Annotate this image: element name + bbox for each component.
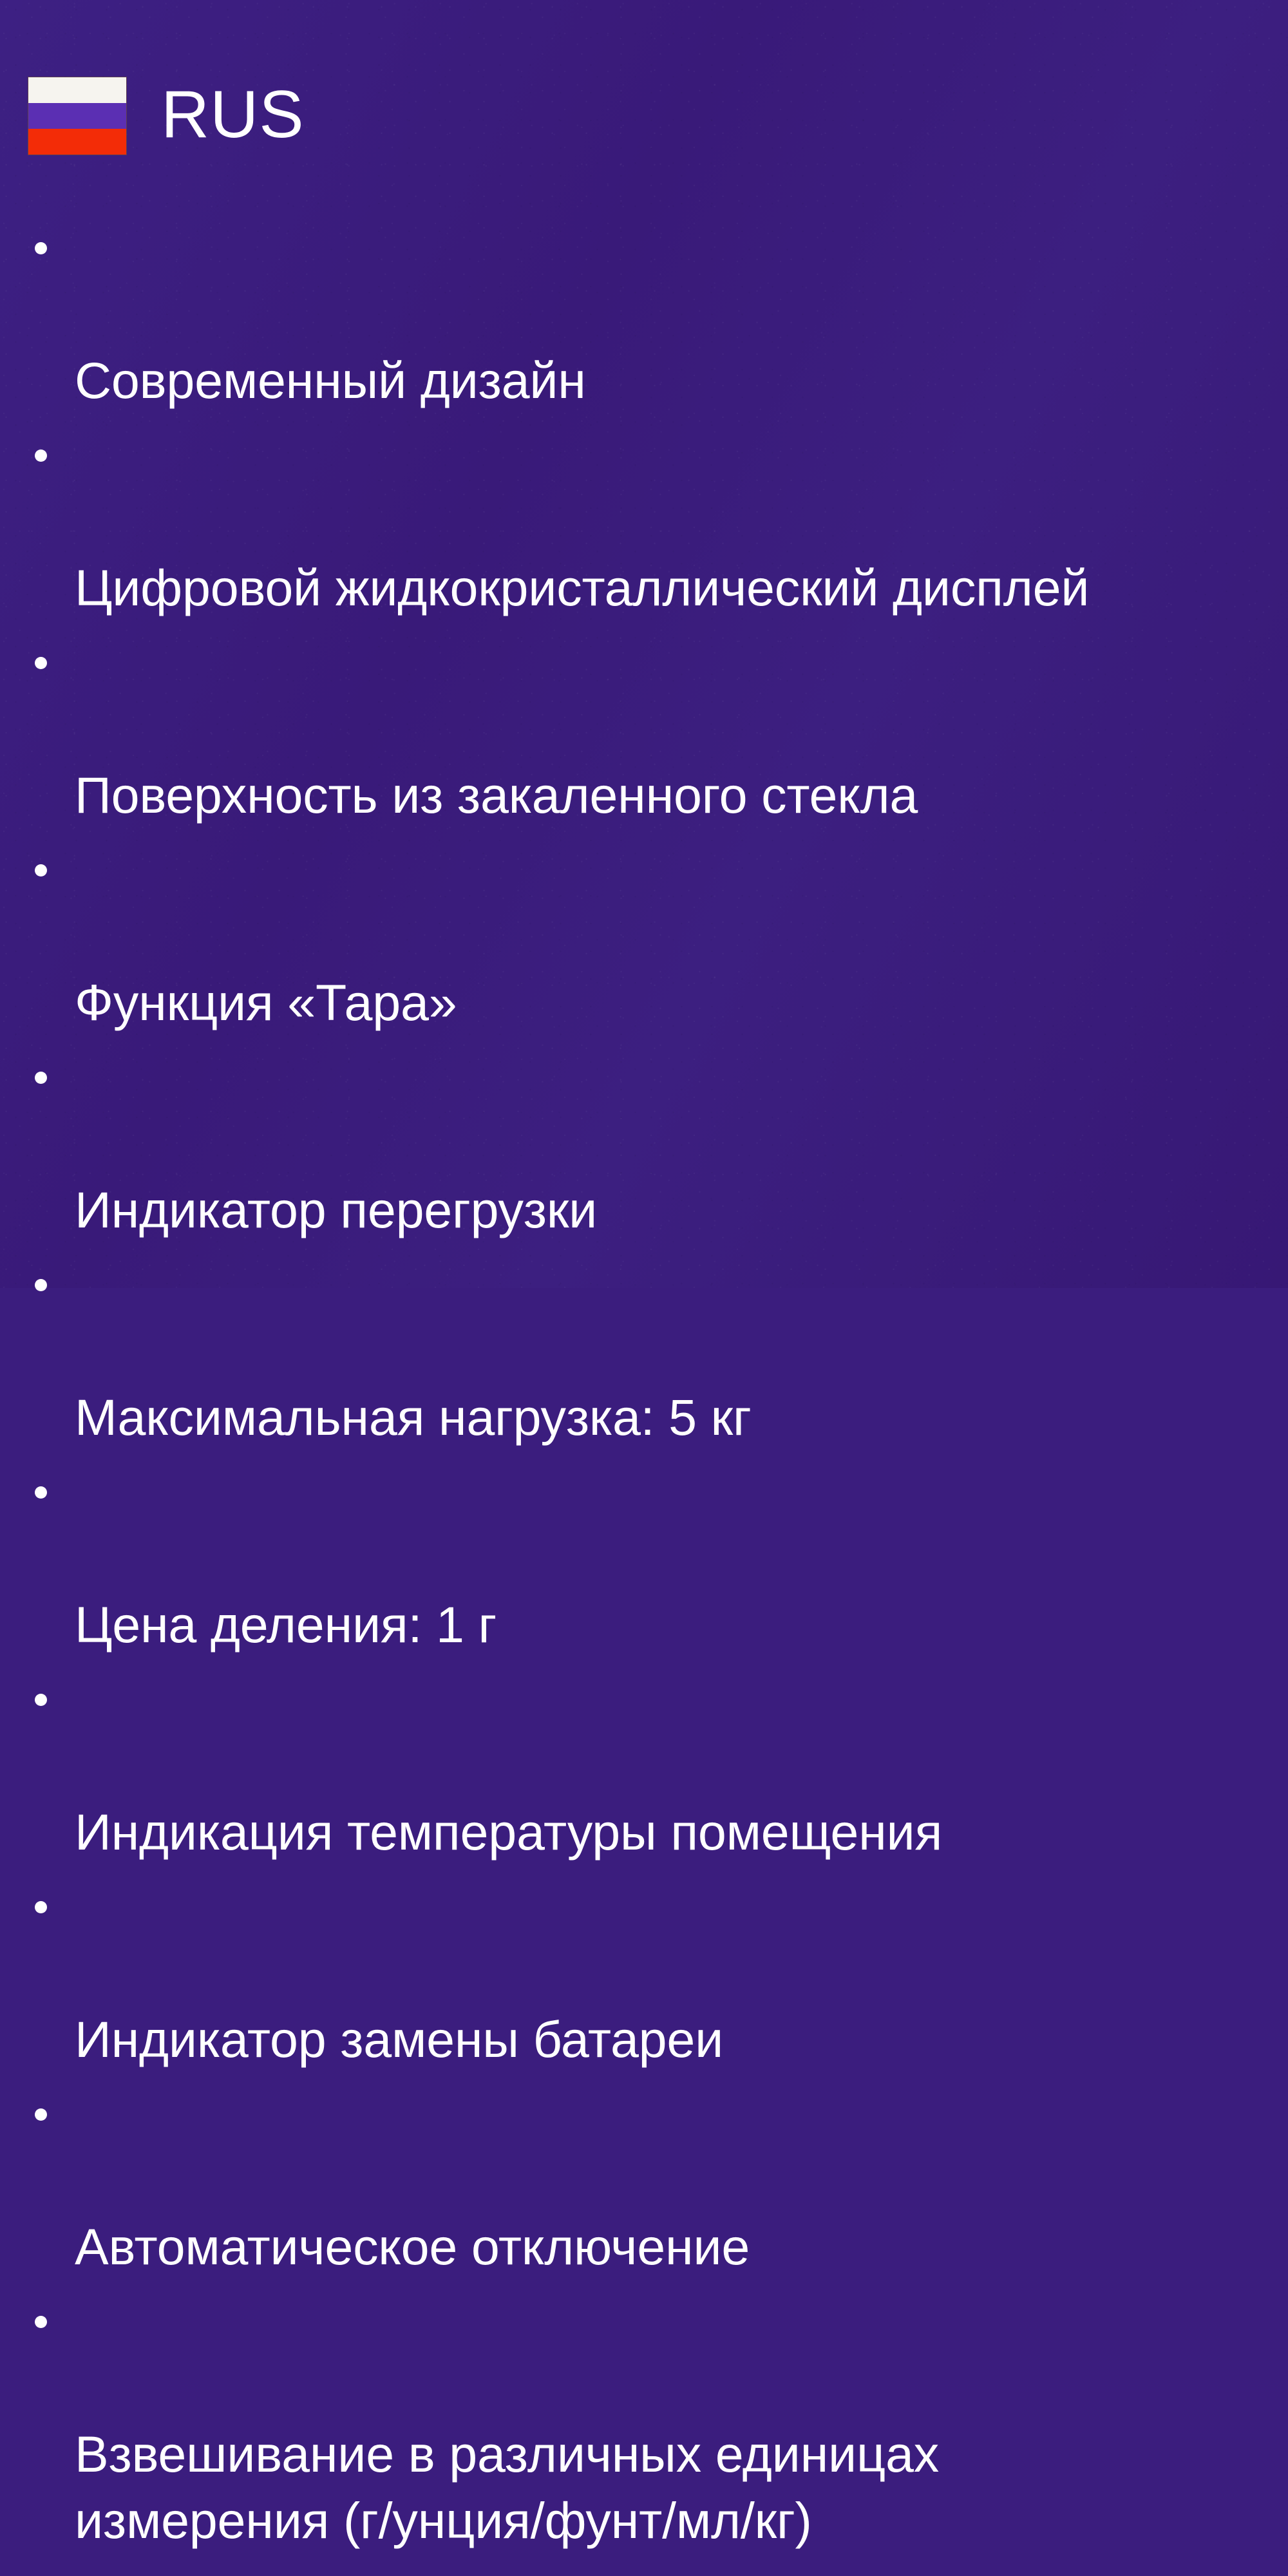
list-item: Функция «Тара» [28, 837, 1271, 1036]
bullet-icon [35, 1694, 47, 1706]
list-item: Индикатор замены батареи [28, 1873, 1271, 2072]
feature-text: Индикация температуры помещения [75, 1803, 942, 1861]
bullet-icon [35, 1279, 47, 1291]
flag-band-white [28, 77, 126, 103]
bullet-icon [35, 1072, 47, 1084]
list-item: Индикация температуры помещения [28, 1666, 1271, 1865]
list-item: Цифровой жидкокристаллический дисплей [28, 422, 1271, 621]
list-item: Взвешивание в различных единицах измерен… [28, 2288, 1271, 2553]
feature-text: Функция «Тара» [75, 974, 457, 1031]
bullet-icon [35, 1486, 47, 1499]
bullet-icon [35, 657, 47, 669]
list-item: Современный дизайн [28, 214, 1271, 413]
list-item: Автоматическое отключение [28, 2081, 1271, 2280]
feature-text: Цифровой жидкокристаллический дисплей [75, 559, 1089, 616]
flag-band-blue [28, 103, 126, 129]
bullet-icon [35, 450, 47, 462]
bullet-icon [35, 242, 47, 254]
feature-text: Максимальная нагрузка: 5 кг [75, 1388, 752, 1446]
package-label-panel: RUS Современный дизайн Цифровой жидкокри… [0, 0, 1288, 1288]
feature-list: Современный дизайн Цифровой жидкокристал… [28, 214, 1271, 2576]
bullet-icon [35, 2108, 47, 2121]
list-item: Индикатор перегрузки [28, 1044, 1271, 1243]
bullet-icon [35, 1901, 47, 1913]
list-item: Максимальная нагрузка: 5 кг [28, 1251, 1271, 1450]
language-header: RUS [28, 77, 305, 155]
feature-text: Современный дизайн [75, 352, 586, 409]
feature-text: Взвешивание в различных единицах измерен… [75, 2425, 939, 2549]
feature-text: Индикатор замены батареи [75, 2011, 723, 2068]
language-code-label: RUS [161, 81, 305, 148]
feature-text: Поверхность из закаленного стекла [75, 766, 918, 824]
bullet-icon [35, 864, 47, 876]
list-item: Цена деления: 1 г [28, 1459, 1271, 1658]
bullet-icon [35, 2316, 47, 2328]
list-item: Поверхность из закаленного стекла [28, 629, 1271, 828]
list-item: Работа от одной литиевой батарейки 3 V (… [28, 2562, 1271, 2576]
feature-text: Индикатор перегрузки [75, 1181, 597, 1238]
flag-band-red [28, 129, 126, 155]
feature-text: Цена деления: 1 г [75, 1596, 497, 1653]
feature-text: Автоматическое отключение [75, 2218, 750, 2275]
russia-flag-icon [28, 77, 126, 155]
